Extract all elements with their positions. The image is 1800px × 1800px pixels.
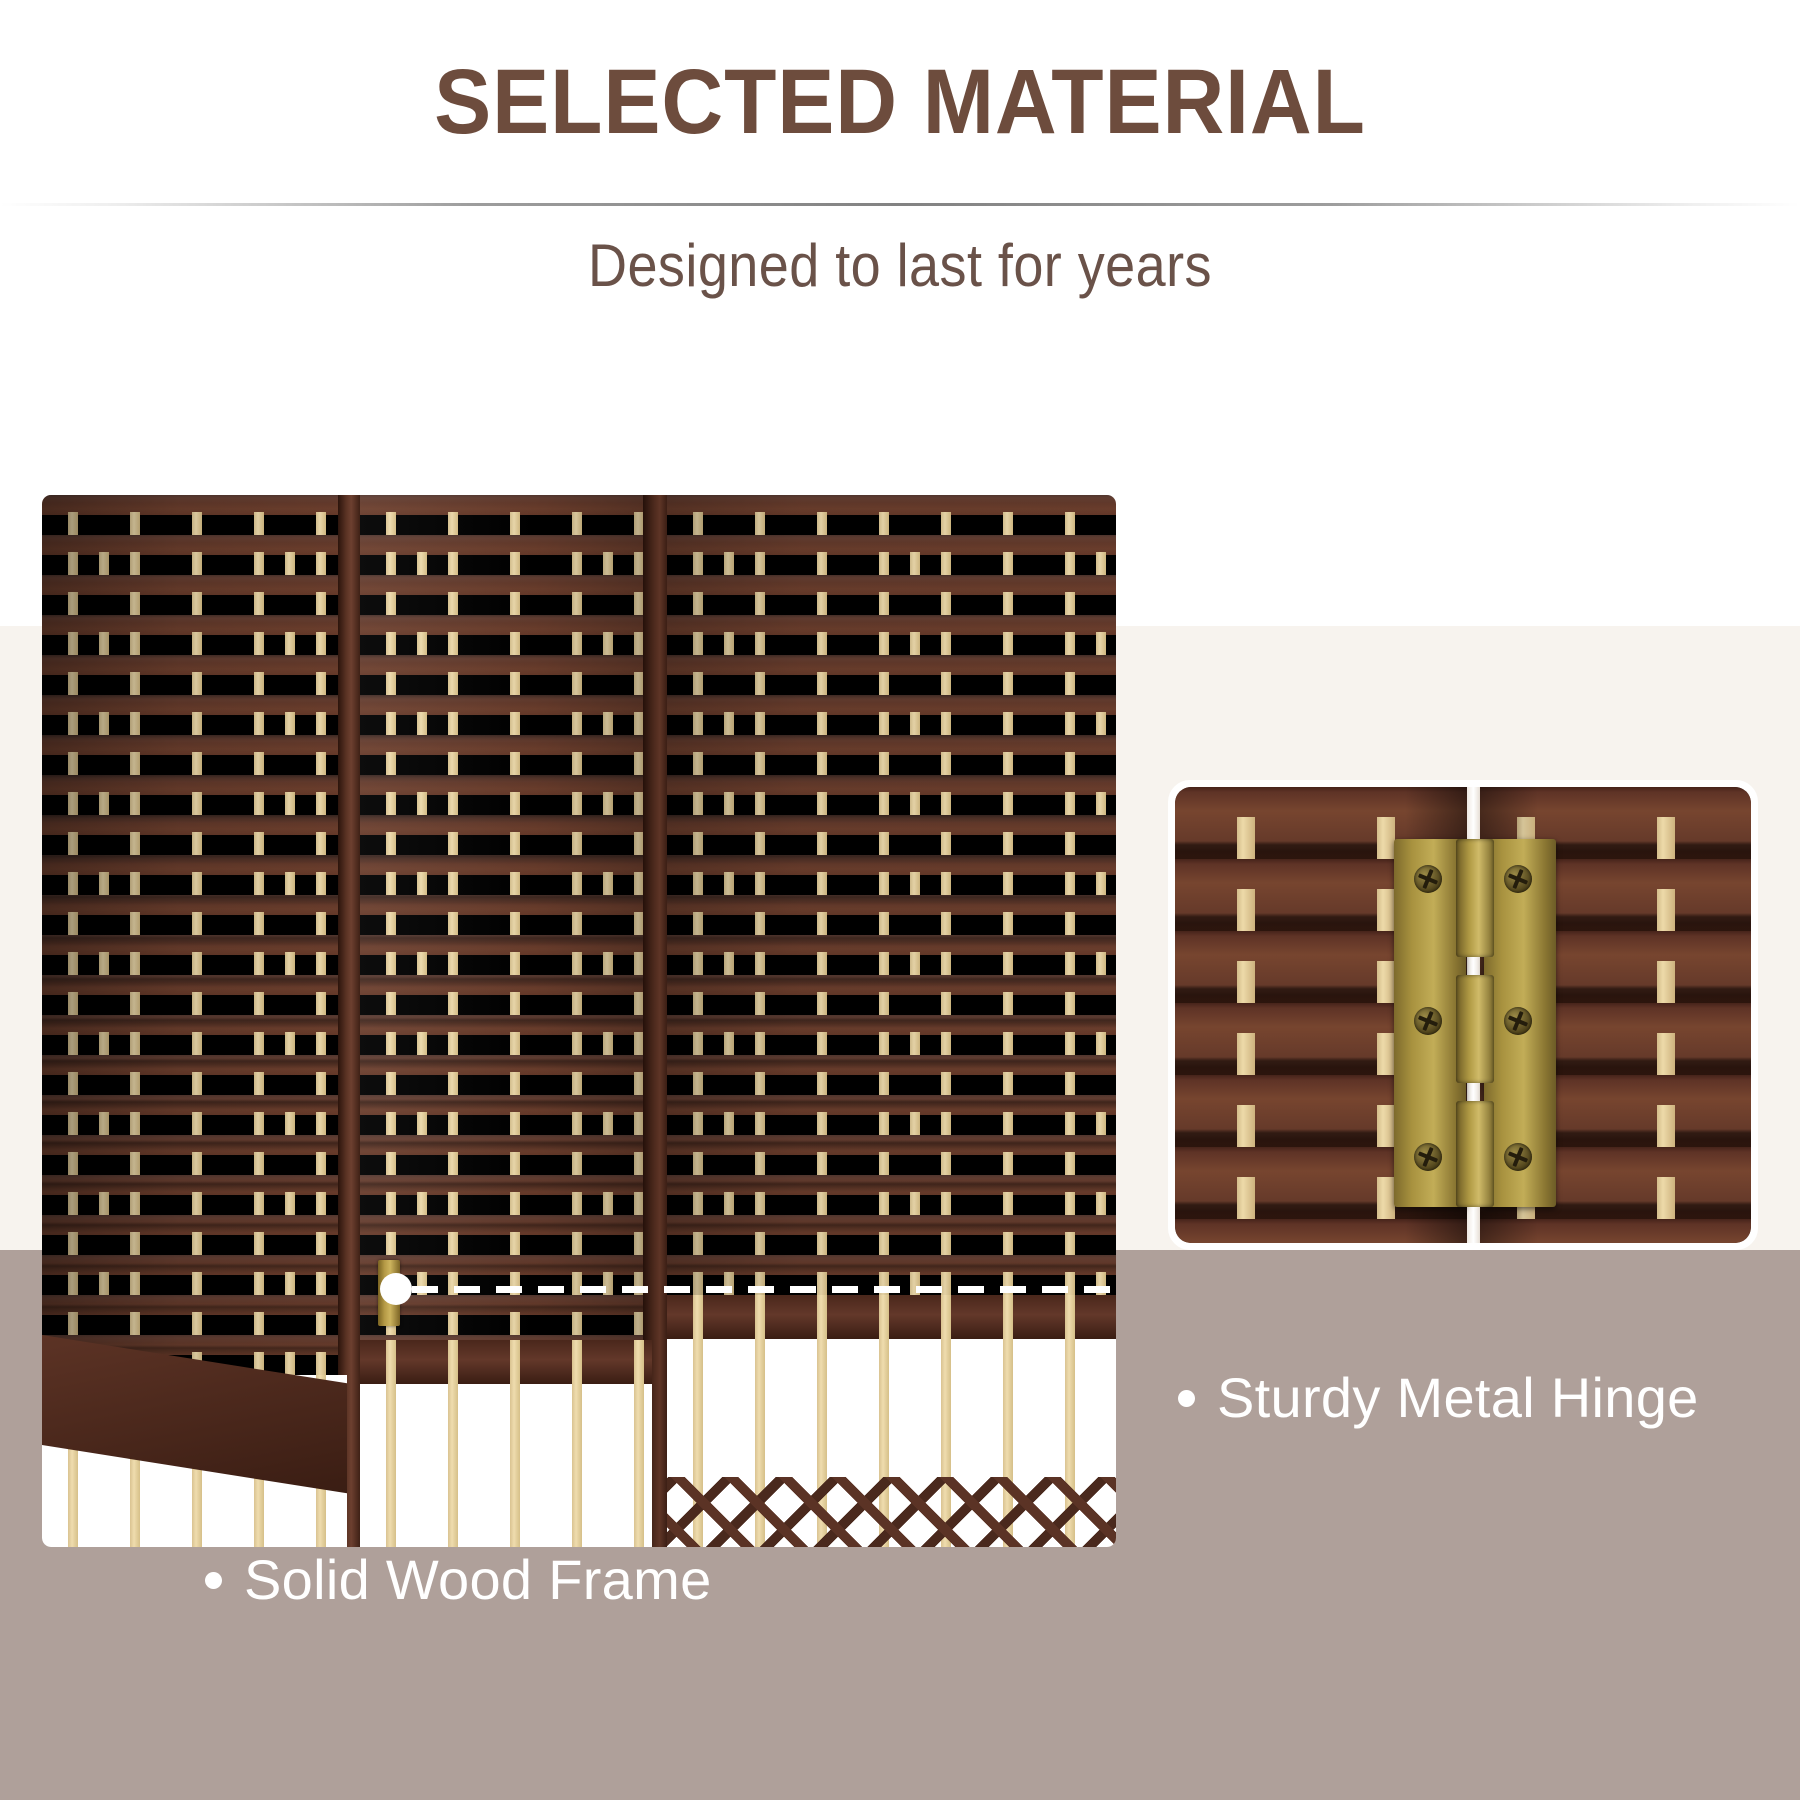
callout-dot-icon — [380, 1273, 412, 1305]
page-title: SELECTED MATERIAL — [63, 56, 1737, 148]
x-lattice-trim — [667, 1477, 1116, 1547]
screw-icon — [1504, 1007, 1532, 1035]
header: SELECTED MATERIAL Designed to last for y… — [0, 0, 1800, 330]
hinge-knuckle — [1456, 975, 1494, 1083]
hinge-knuckle — [1456, 1101, 1494, 1207]
callout-dashed-line — [412, 1286, 1116, 1293]
caption-label: Solid Wood Frame — [244, 1552, 712, 1608]
main-product-photo — [42, 495, 1116, 1547]
screw-icon — [1504, 1143, 1532, 1171]
bottom-open-section-right — [667, 1295, 1116, 1547]
hinge-detail-photo — [1175, 787, 1751, 1243]
caption-solid-wood-frame: Solid Wood Frame — [205, 1552, 712, 1608]
brass-hinge-icon — [1394, 839, 1556, 1207]
bullet-icon — [1178, 1390, 1195, 1407]
page-subtitle: Designed to last for years — [90, 236, 1710, 296]
caption-label: Sturdy Metal Hinge — [1217, 1370, 1699, 1426]
bullet-icon — [205, 1572, 222, 1589]
screw-icon — [1414, 1007, 1442, 1035]
caption-sturdy-metal-hinge: Sturdy Metal Hinge — [1178, 1370, 1699, 1426]
hinge-detail-card — [1168, 780, 1758, 1250]
bottom-open-section-middle — [360, 1340, 652, 1547]
screw-icon — [1504, 865, 1532, 893]
screw-icon — [1414, 865, 1442, 893]
title-divider — [0, 203, 1800, 206]
hinge-knuckle — [1456, 839, 1494, 957]
screw-icon — [1414, 1143, 1442, 1171]
